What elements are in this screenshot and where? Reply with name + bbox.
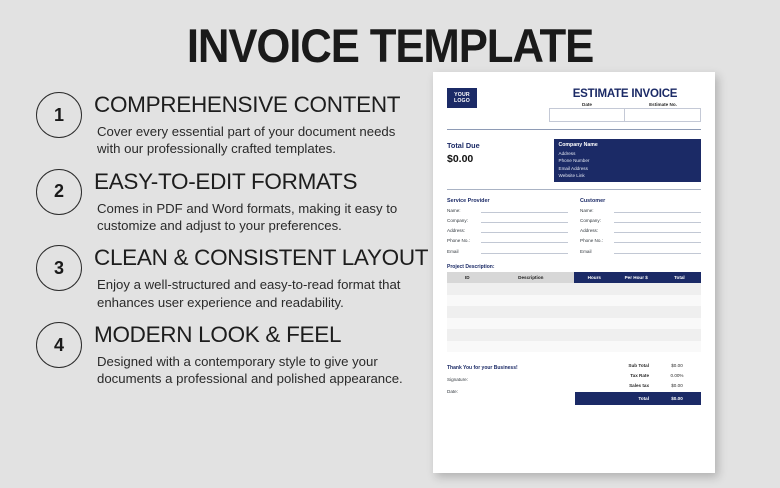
company-email: Email Address [559,166,696,171]
service-provider-address-input[interactable] [481,227,568,233]
cell-hours[interactable] [574,341,615,353]
column-header-description: Description [488,272,574,283]
service-provider-phone-label: Phone No.: [447,238,481,243]
column-header-total: Total [658,272,701,283]
customer-address-label: Address: [580,228,614,233]
cell-description[interactable] [488,341,574,353]
feature-item-4: 4 MODERN LOOK & FEEL Designed with a con… [30,322,430,388]
tax-rate-value: 0.00% [657,373,697,378]
thank-you-message: Thank You for your Business! [447,365,567,371]
table-header-row: ID Description Hours Per Hour $ Total [447,272,701,283]
customer-address-row: Address: [580,227,701,233]
invoice-number-input[interactable] [625,108,701,122]
cell-description[interactable] [488,283,574,295]
customer-company-input[interactable] [614,217,701,223]
customer-company-row: Company: [580,217,701,223]
feature-number-badge-4: 4 [36,322,82,368]
feature-heading-2: EASY-TO-EDIT FORMATS [94,169,430,195]
cell-hours[interactable] [574,329,615,341]
cell-total[interactable] [658,295,701,307]
invoice-date-input[interactable] [549,108,625,122]
feature-body-1: Cover every essential part of your docum… [97,123,407,158]
customer-name-input[interactable] [614,207,701,213]
company-info-block: Company Name Address Phone Number Email … [554,139,701,182]
subtotal-row: Sub Total $0.00 [575,360,701,370]
cell-id[interactable] [447,329,488,341]
customer-block: Customer Name: Company: Address: Phone N… [580,198,701,258]
total-due-section: Total Due $0.00 Company Name Address Pho… [447,139,701,182]
sales-tax-value: $0.00 [657,383,697,388]
line-items-table-head: ID Description Hours Per Hour $ Total [447,272,701,283]
cell-description[interactable] [488,318,574,330]
customer-phone-input[interactable] [614,237,701,243]
company-phone: Phone Number [559,158,696,163]
table-row[interactable] [447,329,701,341]
sales-tax-label: Sales tax [579,383,657,388]
line-items-table-body [447,283,701,352]
cell-hours[interactable] [574,295,615,307]
service-provider-email-row: Email [447,248,568,254]
customer-name-label: Name: [580,208,614,213]
service-provider-phone-input[interactable] [481,237,568,243]
customer-name-row: Name: [580,207,701,213]
service-provider-email-input[interactable] [481,248,568,254]
grand-total-label: Total [579,396,657,401]
cell-id[interactable] [447,295,488,307]
subtotal-value: $0.00 [657,363,697,368]
table-row[interactable] [447,318,701,330]
cell-total[interactable] [658,329,701,341]
feature-heading-1: COMPREHENSIVE CONTENT [94,92,430,118]
cell-description[interactable] [488,306,574,318]
service-provider-name-input[interactable] [481,207,568,213]
cell-id[interactable] [447,306,488,318]
feature-list: 1 COMPREHENSIVE CONTENT Cover every esse… [30,88,430,399]
sales-tax-row: Sales tax $0.00 [575,380,701,390]
total-due-amount: $0.00 [447,153,554,165]
service-provider-phone-row: Phone No.: [447,237,568,243]
column-header-per-hour: Per Hour $ [615,272,658,283]
feature-body-4: Designed with a contemporary style to gi… [97,353,407,388]
service-provider-name-row: Name: [447,207,568,213]
service-provider-email-label: Email [447,249,481,254]
cell-hours[interactable] [574,318,615,330]
table-row[interactable] [447,341,701,353]
logo-line-2: LOGO [454,98,470,105]
feature-heading-3: CLEAN & CONSISTENT LAYOUT [94,245,430,271]
column-header-hours: Hours [574,272,615,283]
signature-label[interactable]: Signature: [447,377,567,382]
feature-body-2: Comes in PDF and Word formats, making it… [97,200,407,235]
parties-section: Service Provider Name: Company: Address:… [447,198,701,258]
header-divider [447,129,701,130]
cell-per-hour[interactable] [615,306,658,318]
feature-number-badge-1: 1 [36,92,82,138]
cell-total[interactable] [658,341,701,353]
cell-id[interactable] [447,341,488,353]
cell-per-hour[interactable] [615,283,658,295]
service-provider-company-label: Company: [447,218,481,223]
column-header-id: ID [447,272,488,283]
service-provider-block: Service Provider Name: Company: Address:… [447,198,568,258]
cell-id[interactable] [447,318,488,330]
cell-per-hour[interactable] [615,341,658,353]
customer-email-row: Email [580,248,701,254]
cell-per-hour[interactable] [615,318,658,330]
cell-per-hour[interactable] [615,329,658,341]
customer-email-label: Email [580,249,614,254]
feature-item-3: 3 CLEAN & CONSISTENT LAYOUT Enjoy a well… [30,245,430,311]
signature-block: Thank You for your Business! Signature: … [447,360,567,405]
customer-phone-row: Phone No.: [580,237,701,243]
cell-total[interactable] [658,318,701,330]
invoice-document-preview: YOUR LOGO ESTIMATE INVOICE Date Estimate… [433,72,715,473]
cell-total[interactable] [658,306,701,318]
tax-rate-label: Tax Rate [579,373,657,378]
service-provider-address-label: Address: [447,228,481,233]
company-name: Company Name [559,142,696,148]
totals-block: Sub Total $0.00 Tax Rate 0.00% Sales tax… [575,360,701,405]
signature-date-label[interactable]: Date: [447,389,567,394]
table-row[interactable] [447,306,701,318]
company-address: Address [559,151,696,156]
invoice-header: YOUR LOGO ESTIMATE INVOICE Date Estimate… [447,88,701,122]
feature-number-badge-2: 2 [36,169,82,215]
cell-description[interactable] [488,295,574,307]
service-provider-company-row: Company: [447,217,568,223]
cell-total[interactable] [658,283,701,295]
feature-item-2: 2 EASY-TO-EDIT FORMATS Comes in PDF and … [30,169,430,235]
feature-heading-4: MODERN LOOK & FEEL [94,322,430,348]
service-provider-company-input[interactable] [481,217,568,223]
table-row[interactable] [447,283,701,295]
customer-title: Customer [580,198,701,204]
company-logo-placeholder: YOUR LOGO [447,88,477,108]
total-due-divider [447,189,701,190]
customer-phone-label: Phone No.: [580,238,614,243]
customer-company-label: Company: [580,218,614,223]
page-title: INVOICE TEMPLATE [27,18,752,73]
service-provider-name-label: Name: [447,208,481,213]
feature-number-badge-3: 3 [36,245,82,291]
grand-total-value: $0.00 [657,396,697,401]
project-description-label: Project Description: [447,264,701,270]
total-due-block: Total Due $0.00 [447,139,554,182]
cell-description[interactable] [488,329,574,341]
service-provider-title: Service Provider [447,198,568,204]
invoice-footer: Thank You for your Business! Signature: … [447,360,701,405]
company-website: Website Link [559,173,696,178]
invoice-document-title: ESTIMATE INVOICE [549,88,701,100]
feature-body-3: Enjoy a well-structured and easy-to-read… [97,276,407,311]
cell-hours[interactable] [574,306,615,318]
grand-total-row: Total $0.00 [575,392,701,405]
subtotal-label: Sub Total [579,363,657,368]
feature-item-1: 1 COMPREHENSIVE CONTENT Cover every esse… [30,92,430,158]
table-row[interactable] [447,295,701,307]
cell-id[interactable] [447,283,488,295]
customer-email-input[interactable] [614,248,701,254]
tax-rate-row: Tax Rate 0.00% [575,370,701,380]
service-provider-address-row: Address: [447,227,568,233]
invoice-meta-fields: Date Estimate No. [549,102,701,122]
cell-hours[interactable] [574,283,615,295]
customer-address-input[interactable] [614,227,701,233]
invoice-title-block: ESTIMATE INVOICE Date Estimate No. [549,88,701,122]
total-due-label: Total Due [447,141,554,150]
cell-per-hour[interactable] [615,295,658,307]
invoice-date-field: Date [549,102,625,122]
invoice-number-field: Estimate No. [625,102,701,122]
line-items-table: ID Description Hours Per Hour $ Total [447,272,701,352]
